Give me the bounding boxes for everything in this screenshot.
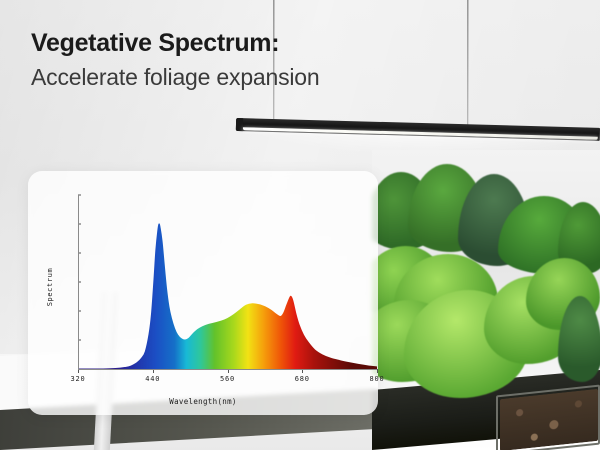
x-axis-line — [78, 369, 377, 370]
y-axis-line — [78, 195, 79, 370]
heading-block: Vegetative Spectrum: Accelerate foliage … — [31, 29, 461, 92]
seed-tray-frame — [496, 385, 600, 450]
wall-seam — [468, 0, 469, 131]
page-title: Vegetative Spectrum: — [31, 29, 461, 59]
spectrum-plot: Spectrum Wavelength(nm) 0.00.20.40.60.81… — [28, 171, 378, 415]
page-subtitle: Accelerate foliage expansion — [31, 63, 461, 93]
spectrum-curve — [28, 171, 378, 415]
promo-banner: Vegetative Spectrum: Accelerate foliage … — [0, 0, 600, 450]
suspension-cable — [467, 0, 468, 128]
vegetable-garden-bed-photo — [372, 150, 600, 450]
spectrum-area-fill — [78, 224, 377, 369]
fixture-end-cap — [236, 118, 243, 131]
spectrum-chart-card: Spectrum Wavelength(nm) 0.00.20.40.60.81… — [28, 171, 378, 415]
